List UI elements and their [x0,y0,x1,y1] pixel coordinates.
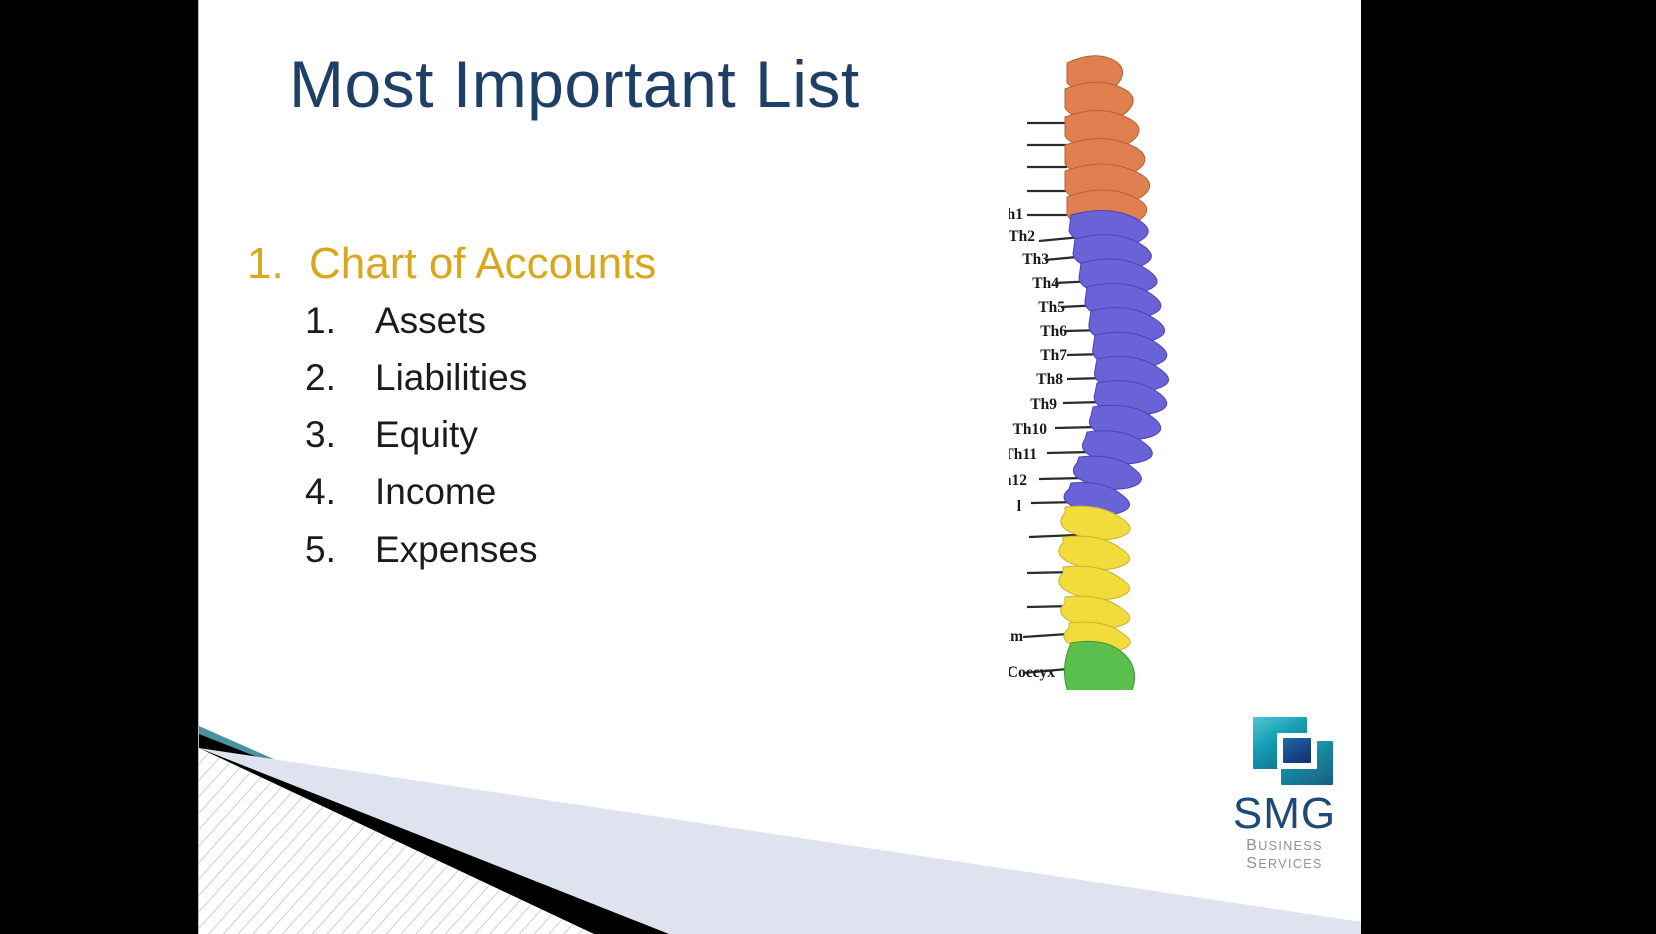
list-item-label: Expenses [375,523,538,576]
list-item-number: 4. [305,465,375,518]
list-item: 2. Liabilities [247,351,947,404]
list-item-number: 3. [305,408,375,461]
svg-text:Th10: Th10 [1013,421,1048,438]
svg-text:Th4: Th4 [1032,275,1059,292]
list-item: 4. Income [247,465,947,518]
spine-diagram-image: Th1 Th2 Th3 Th4 Th5 Th6 Th7 Th8 Th9 Th10… [1009,45,1339,690]
svg-text:Coccyx: Coccyx [1009,664,1055,681]
svg-text:Th3: Th3 [1022,251,1049,268]
svg-text:Th8: Th8 [1036,371,1063,388]
list-item-number: 5. [305,523,375,576]
list-item-level1: 1. Chart of Accounts [247,240,947,288]
svg-text:Th6: Th6 [1040,323,1067,340]
smg-tagline: BUSINESS SERVICES [1212,837,1357,873]
smg-logo: SMG BUSINESS SERVICES [1212,715,1357,850]
svg-text:Th7: Th7 [1040,347,1067,364]
smg-wordmark: SMG [1212,793,1357,835]
sub-list: 1. Assets 2. Liabilities 3. Equity 4. In… [247,294,947,576]
list-item: 1. Assets [247,294,947,347]
slide-decoration [199,714,1361,934]
presentation-slide: Most Important List 1. Chart of Accounts… [198,0,1361,934]
list-item-label: Assets [375,294,486,347]
svg-text:h12: h12 [1009,472,1027,489]
list-item-label: Equity [375,408,478,461]
svg-text:Th11: Th11 [1009,446,1037,463]
list-item-number: 2. [305,351,375,404]
letterbox-left [0,0,198,934]
svg-text:um: um [1009,628,1023,645]
list-item-level1-label: Chart of Accounts [309,240,656,288]
content-list: 1. Chart of Accounts 1. Assets 2. Liabil… [247,240,947,580]
smg-logo-mark-icon [1231,715,1339,791]
svg-text:Th9: Th9 [1030,396,1057,413]
list-item-number: 1. [305,294,375,347]
letterbox-right [1361,0,1656,934]
list-item: 3. Equity [247,408,947,461]
screen: Most Important List 1. Chart of Accounts… [0,0,1656,934]
list-item: 5. Expenses [247,523,947,576]
logo-square-inner [1283,738,1311,763]
list-item-label: Income [375,465,496,518]
svg-text:Th5: Th5 [1038,299,1065,316]
svg-text:l: l [1017,498,1022,515]
svg-text:Th2: Th2 [1009,228,1035,245]
list-item-level1-number: 1. [247,240,309,288]
svg-text:Th1: Th1 [1009,206,1023,223]
list-item-label: Liabilities [375,351,527,404]
